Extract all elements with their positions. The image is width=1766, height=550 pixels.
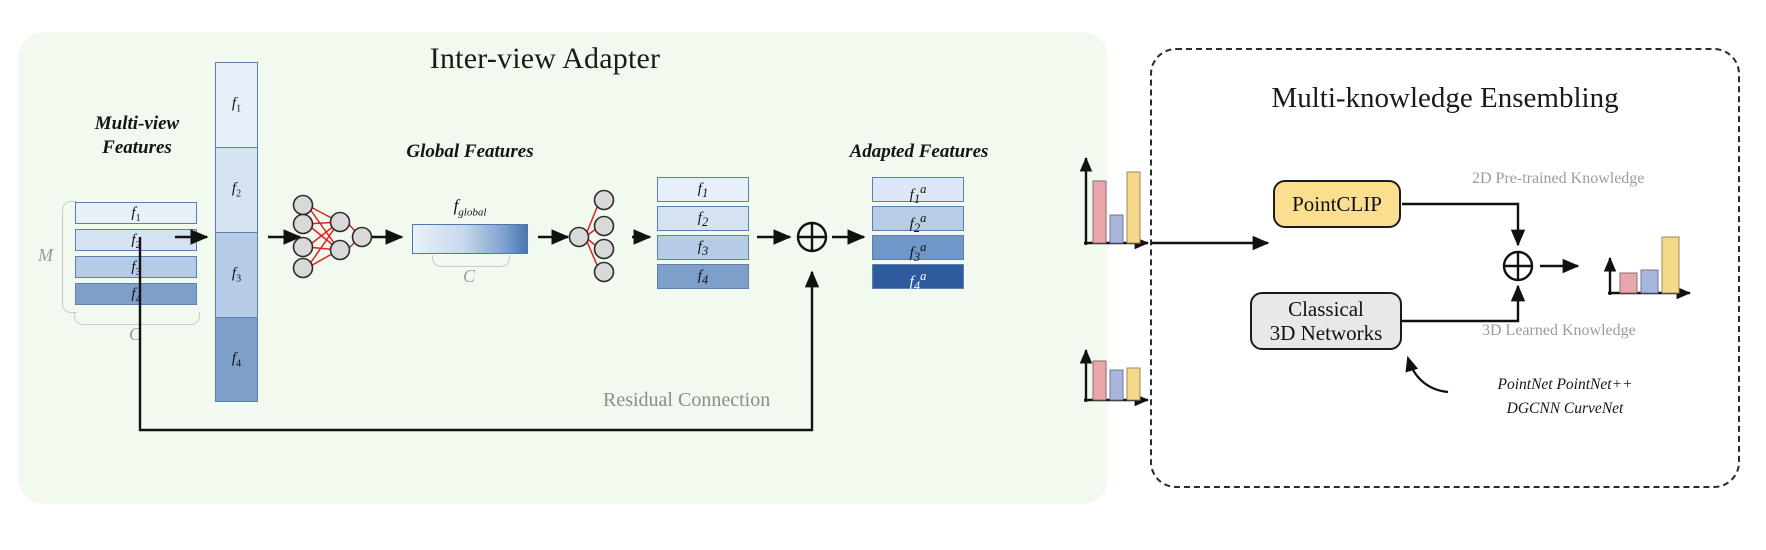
- diagram-canvas: Inter-view Adapter Multi-view Features M…: [0, 0, 1766, 550]
- classical-line2: 3D Networks: [1270, 321, 1383, 345]
- network-list-line1: PointNet PointNet++: [1440, 373, 1690, 397]
- recon-box-f2: f2: [657, 206, 749, 231]
- multi-knowledge-ensembling-title: Multi-knowledge Ensembling: [1150, 82, 1740, 115]
- adapted-box-f1a: f1a: [872, 177, 964, 202]
- multi-view-features-line2: Features: [64, 136, 210, 160]
- edge-label-3d-learned-knowledge: 3D Learned Knowledge: [1482, 322, 1636, 340]
- adapted-features-label: Adapted Features: [803, 140, 1035, 164]
- global-feature-bar: [412, 224, 528, 254]
- classical-3d-networks-block[interactable]: Classical 3D Networks: [1250, 292, 1402, 350]
- feature-box-f1: f1: [75, 202, 197, 224]
- pointclip-block[interactable]: PointCLIP: [1273, 180, 1401, 228]
- recon-box-f4: f4: [657, 264, 749, 289]
- classical-3d-networks-label: Classical 3D Networks: [1270, 297, 1383, 345]
- feature-box-f2: f2: [75, 229, 197, 251]
- adapted-box-f2a: f2a: [872, 206, 964, 231]
- reconstructed-feature-stack: f1 f2 f3 f4: [657, 177, 749, 289]
- residual-connection-label: Residual Connection: [603, 389, 770, 412]
- adapted-box-f3a: f3a: [872, 235, 964, 260]
- classical-network-list: PointNet PointNet++ DGCNN CurveNet: [1440, 373, 1690, 421]
- recon-box-f1: f1: [657, 177, 749, 202]
- adapted-feature-stack: f1a f2a f3a f4a: [872, 177, 964, 289]
- feature-box-f3: f3: [75, 256, 197, 278]
- concat-cell-f4: f4: [215, 317, 258, 402]
- network-list-line2: DGCNN CurveNet: [1440, 397, 1690, 421]
- adapted-box-f4a: f4a: [872, 264, 964, 289]
- concatenated-feature-column: f1 f2 f3 f4: [215, 62, 258, 402]
- concat-cell-f2: f2: [215, 147, 258, 232]
- multi-view-features-label: Multi-view Features: [64, 112, 210, 161]
- dimension-label-c-global: C: [463, 266, 475, 287]
- inter-view-adapter-title: Inter-view Adapter: [0, 42, 1090, 76]
- multi-view-features-line1: Multi-view: [64, 112, 210, 136]
- dimension-label-m: M: [38, 245, 53, 266]
- concat-cell-f1: f1: [215, 62, 258, 147]
- recon-box-f3: f3: [657, 235, 749, 260]
- dimension-label-c: C: [129, 324, 141, 345]
- multi-view-feature-stack: f1 f2 f3 f4: [75, 202, 197, 305]
- concat-cell-f3: f3: [215, 232, 258, 317]
- f-global-label: fglobal: [412, 196, 528, 218]
- global-features-label: Global Features: [360, 140, 580, 164]
- feature-box-f4: f4: [75, 283, 197, 305]
- pointclip-label: PointCLIP: [1292, 192, 1382, 216]
- classical-line1: Classical: [1288, 297, 1364, 321]
- edge-label-2d-pretrained-knowledge: 2D Pre-trained Knowledge: [1472, 170, 1644, 188]
